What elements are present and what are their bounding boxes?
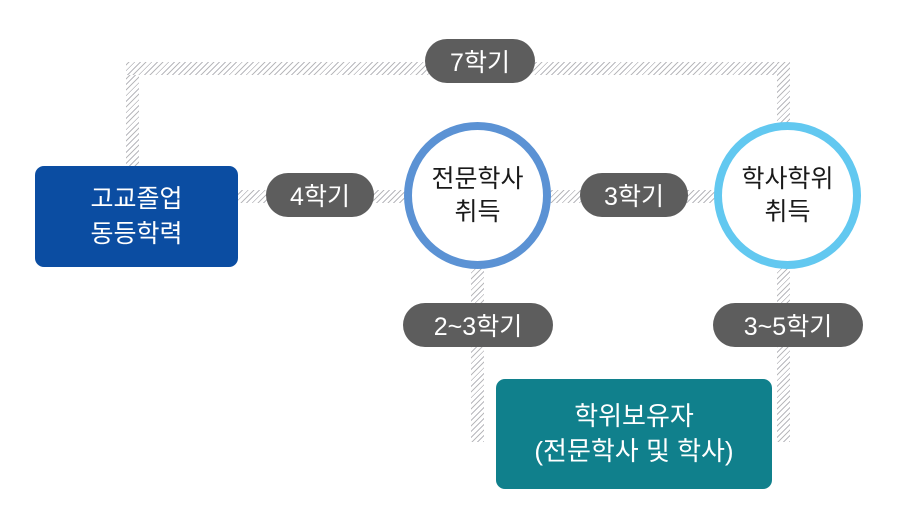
connector-associate-down [471,262,484,442]
node-associate-degree[interactable]: 전문학사 취득 [404,122,551,269]
node-highschool-diploma[interactable]: 고교졸업 동등학력 [35,166,238,267]
node-highschool-line-2: 동등학력 [90,217,182,252]
node-degree-holder-line-1: 학위보유자 [574,399,694,434]
node-highschool-line-1: 고교졸업 [90,182,182,217]
node-associate-line-1: 전문학사 [431,163,523,196]
edge-label-degreeholder-to-associate: 2~3학기 [403,303,553,347]
diagram-canvas: 고교졸업 동등학력 전문학사 취득 학사학위 취득 학위보유자 (전문학사 및 … [0,0,900,530]
node-degree-holder-line-2: (전문학사 및 학사) [534,434,733,469]
edge-label-associate-to-bachelor: 3학기 [580,173,688,217]
edge-label-highschool-to-bachelor: 7학기 [425,39,535,83]
edge-label-highschool-to-associate: 4학기 [266,173,374,217]
connector-bachelor-down-lower [777,262,790,442]
node-degree-holder[interactable]: 학위보유자 (전문학사 및 학사) [496,379,772,489]
node-associate-line-2: 취득 [454,196,500,229]
node-bachelor-degree[interactable]: 학사학위 취득 [714,122,861,269]
node-bachelor-line-2: 취득 [764,196,810,229]
connector-highschool-up [126,62,139,174]
node-bachelor-line-1: 학사학위 [741,163,833,196]
edge-label-degreeholder-to-bachelor: 3~5학기 [713,303,863,347]
